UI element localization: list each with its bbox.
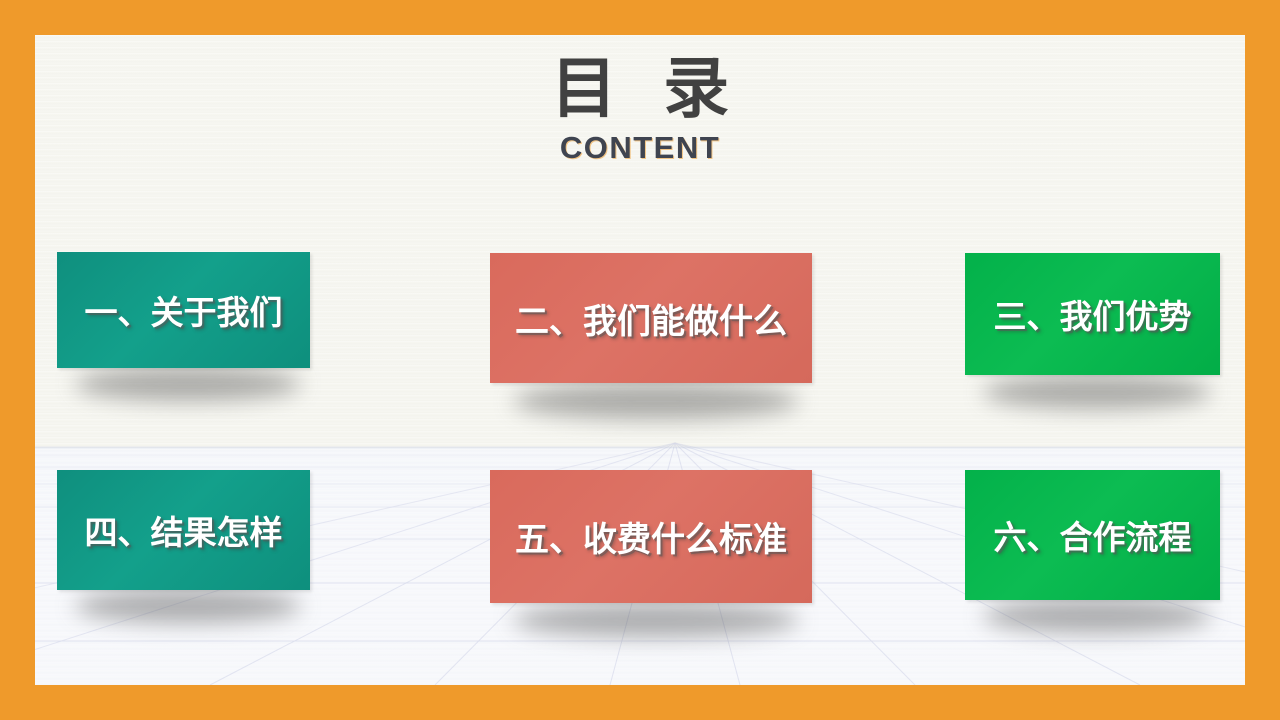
agenda-item-5[interactable]: 五、收费什么标准 <box>490 470 812 603</box>
agenda-item-6-label: 六、合作流程 <box>965 511 1220 559</box>
agenda-item-4-label: 四、结果怎样 <box>57 506 310 554</box>
card-shadow <box>75 367 301 401</box>
agenda-item-3-label: 三、我们优势 <box>965 290 1220 338</box>
slide-content-panel: 目 录 CONTENT 一、关于我们 二、我们能做什么 三、我们优势 四、结果怎… <box>35 35 1245 685</box>
agenda-item-2[interactable]: 二、我们能做什么 <box>490 253 812 383</box>
slide-header: 目 录 CONTENT <box>35 53 1245 166</box>
agenda-item-2-label: 二、我们能做什么 <box>490 294 812 343</box>
page-title: 目 录 <box>35 53 1245 124</box>
agenda-item-6[interactable]: 六、合作流程 <box>965 470 1220 600</box>
card-shadow <box>75 589 301 623</box>
card-shadow <box>983 599 1211 633</box>
agenda-item-3[interactable]: 三、我们优势 <box>965 253 1220 375</box>
card-shadow <box>983 375 1211 409</box>
presentation-slide: 目 录 CONTENT 一、关于我们 二、我们能做什么 三、我们优势 四、结果怎… <box>0 0 1280 720</box>
agenda-item-4[interactable]: 四、结果怎样 <box>57 470 310 590</box>
horizon-line <box>35 446 1245 449</box>
page-subtitle: CONTENT <box>35 130 1245 166</box>
agenda-item-1-label: 一、关于我们 <box>57 286 310 334</box>
card-shadow <box>513 383 799 419</box>
agenda-item-5-label: 五、收费什么标准 <box>490 512 812 561</box>
agenda-item-1[interactable]: 一、关于我们 <box>57 252 310 368</box>
card-shadow <box>513 603 799 637</box>
